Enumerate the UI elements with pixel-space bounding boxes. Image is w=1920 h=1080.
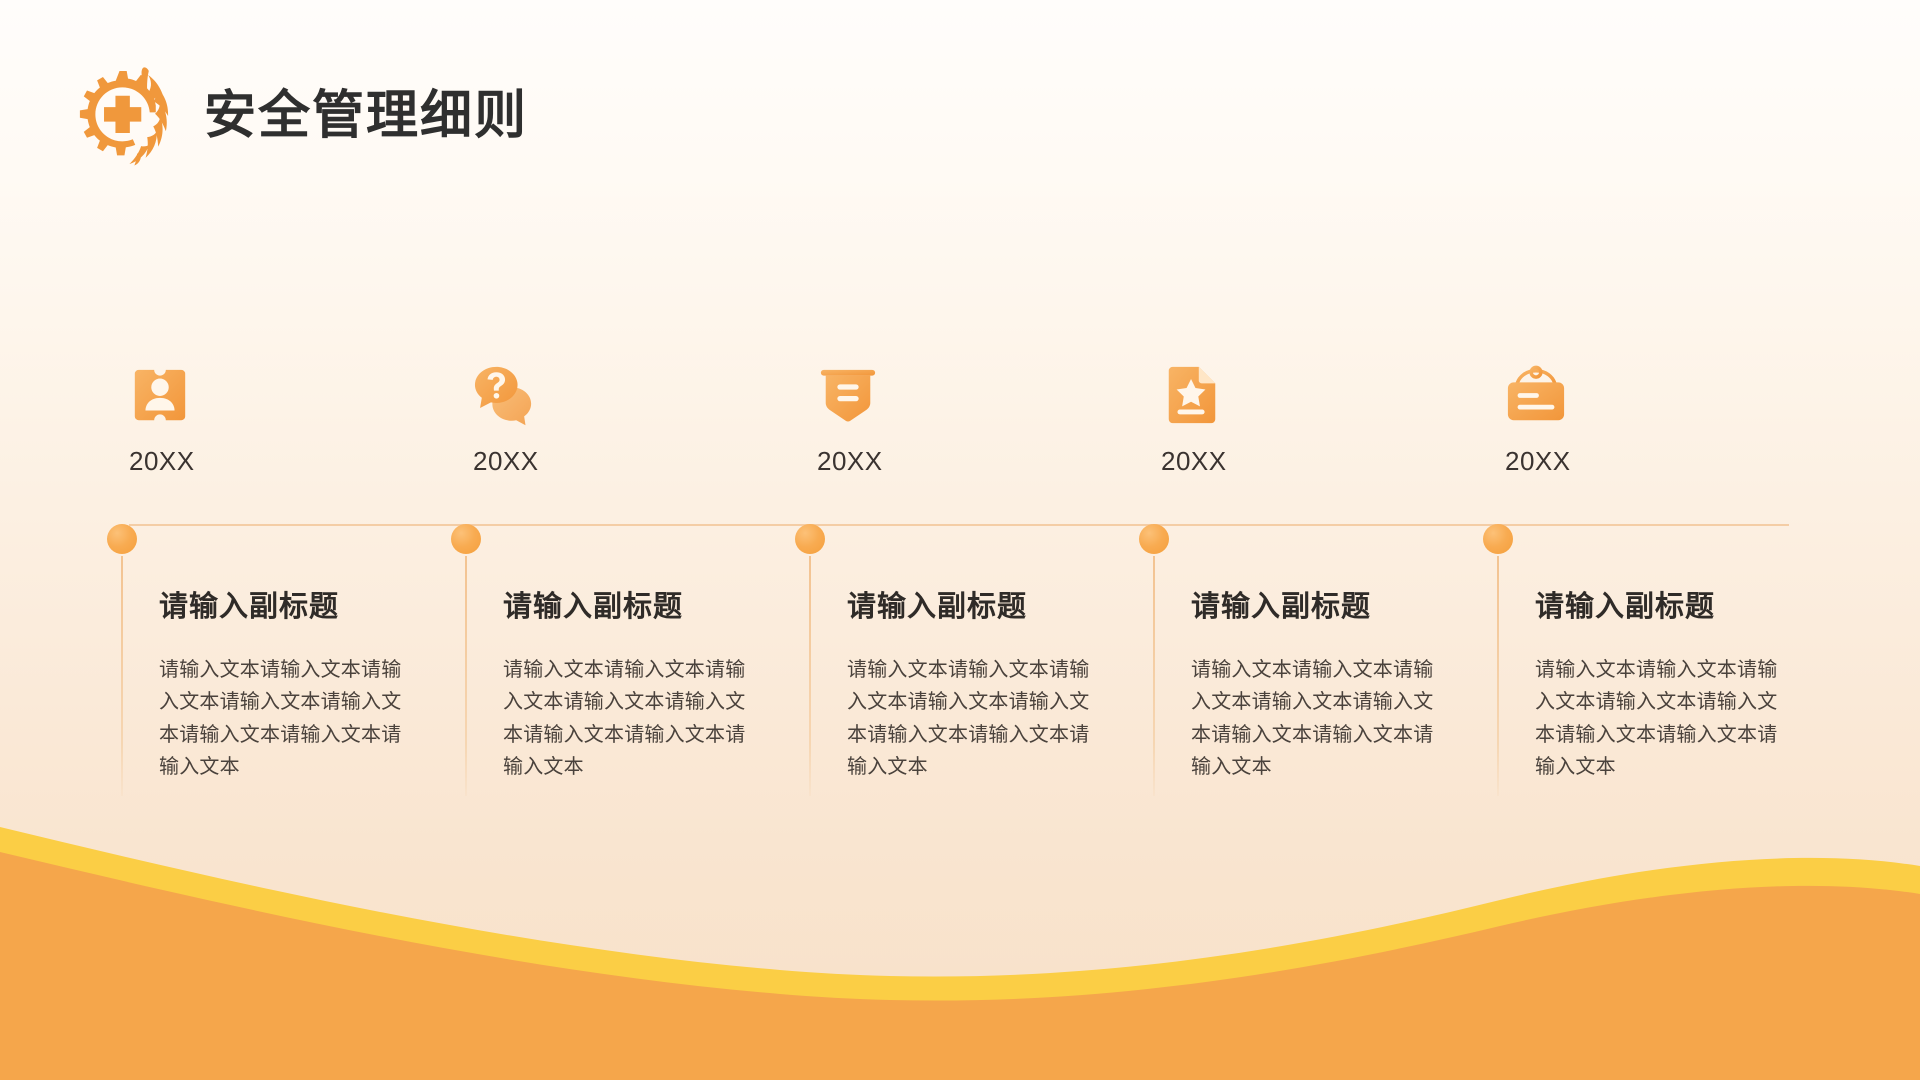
- timeline-body-text: 请输入文本请输入文本请输入文本请输入文本请输入文本请输入文本请输入文本请输入文本: [503, 654, 755, 784]
- timeline-dot[interactable]: [107, 524, 137, 554]
- timeline-body-text: 请输入文本请输入文本请输入文本请输入文本请输入文本请输入文本请输入文本请输入文本: [159, 654, 411, 784]
- timeline-item[interactable]: 20XX 请输入副标题 请输入文本请输入文本请输入文本请输入文本请输入文本请输入…: [473, 360, 818, 474]
- timeline-year: 20XX: [129, 448, 474, 474]
- timeline-dot[interactable]: [1483, 524, 1513, 554]
- timeline-axis-line: [129, 524, 1789, 526]
- timeline-dot[interactable]: [451, 524, 481, 554]
- contact-card-icon: [129, 360, 474, 426]
- timeline-content: 请输入副标题 请输入文本请输入文本请输入文本请输入文本请输入文本请输入文本请输入…: [159, 592, 459, 783]
- timeline-year: 20XX: [473, 448, 818, 474]
- timeline-body-text: 请输入文本请输入文本请输入文本请输入文本请输入文本请输入文本请输入文本请输入文本: [847, 654, 1099, 784]
- timeline-content: 请输入副标题 请输入文本请输入文本请输入文本请输入文本请输入文本请输入文本请输入…: [1191, 592, 1491, 783]
- question-chat-icon: [473, 360, 818, 426]
- timeline-year: 20XX: [1505, 448, 1850, 474]
- timeline-body-text: 请输入文本请输入文本请输入文本请输入文本请输入文本请输入文本请输入文本请输入文本: [1535, 654, 1787, 784]
- timeline: 20XX 请输入副标题 请输入文本请输入文本请输入文本请输入文本请输入文本请输入…: [0, 0, 1920, 1080]
- timeline-connector-line: [465, 556, 467, 796]
- hanging-sign-icon: [1505, 360, 1850, 426]
- slide-canvas: 安全管理细则 20XX: [0, 0, 1920, 1080]
- timeline-subtitle: 请输入副标题: [1535, 592, 1835, 624]
- timeline-body-text: 请输入文本请输入文本请输入文本请输入文本请输入文本请输入文本请输入文本请输入文本: [1191, 654, 1443, 784]
- timeline-dot[interactable]: [1139, 524, 1169, 554]
- timeline-item[interactable]: 20XX 请输入副标题 请输入文本请输入文本请输入文本请输入文本请输入文本请输入…: [1505, 360, 1850, 474]
- timeline-subtitle: 请输入副标题: [1191, 592, 1491, 624]
- timeline-content: 请输入副标题 请输入文本请输入文本请输入文本请输入文本请输入文本请输入文本请输入…: [1535, 592, 1835, 783]
- timeline-content: 请输入副标题 请输入文本请输入文本请输入文本请输入文本请输入文本请输入文本请输入…: [847, 592, 1147, 783]
- ribbon-badge-icon: [817, 360, 1162, 426]
- timeline-connector-line: [121, 556, 123, 796]
- timeline-item[interactable]: 20XX 请输入副标题 请输入文本请输入文本请输入文本请输入文本请输入文本请输入…: [817, 360, 1162, 474]
- timeline-item[interactable]: 20XX 请输入副标题 请输入文本请输入文本请输入文本请输入文本请输入文本请输入…: [129, 360, 474, 474]
- timeline-connector-line: [809, 556, 811, 796]
- timeline-subtitle: 请输入副标题: [159, 592, 459, 624]
- timeline-dot[interactable]: [795, 524, 825, 554]
- timeline-connector-line: [1497, 556, 1499, 796]
- timeline-subtitle: 请输入副标题: [503, 592, 803, 624]
- star-document-icon: [1161, 360, 1506, 426]
- timeline-item[interactable]: 20XX 请输入副标题 请输入文本请输入文本请输入文本请输入文本请输入文本请输入…: [1161, 360, 1506, 474]
- timeline-subtitle: 请输入副标题: [847, 592, 1147, 624]
- timeline-year: 20XX: [817, 448, 1162, 474]
- timeline-content: 请输入副标题 请输入文本请输入文本请输入文本请输入文本请输入文本请输入文本请输入…: [503, 592, 803, 783]
- timeline-connector-line: [1153, 556, 1155, 796]
- timeline-year: 20XX: [1161, 448, 1506, 474]
